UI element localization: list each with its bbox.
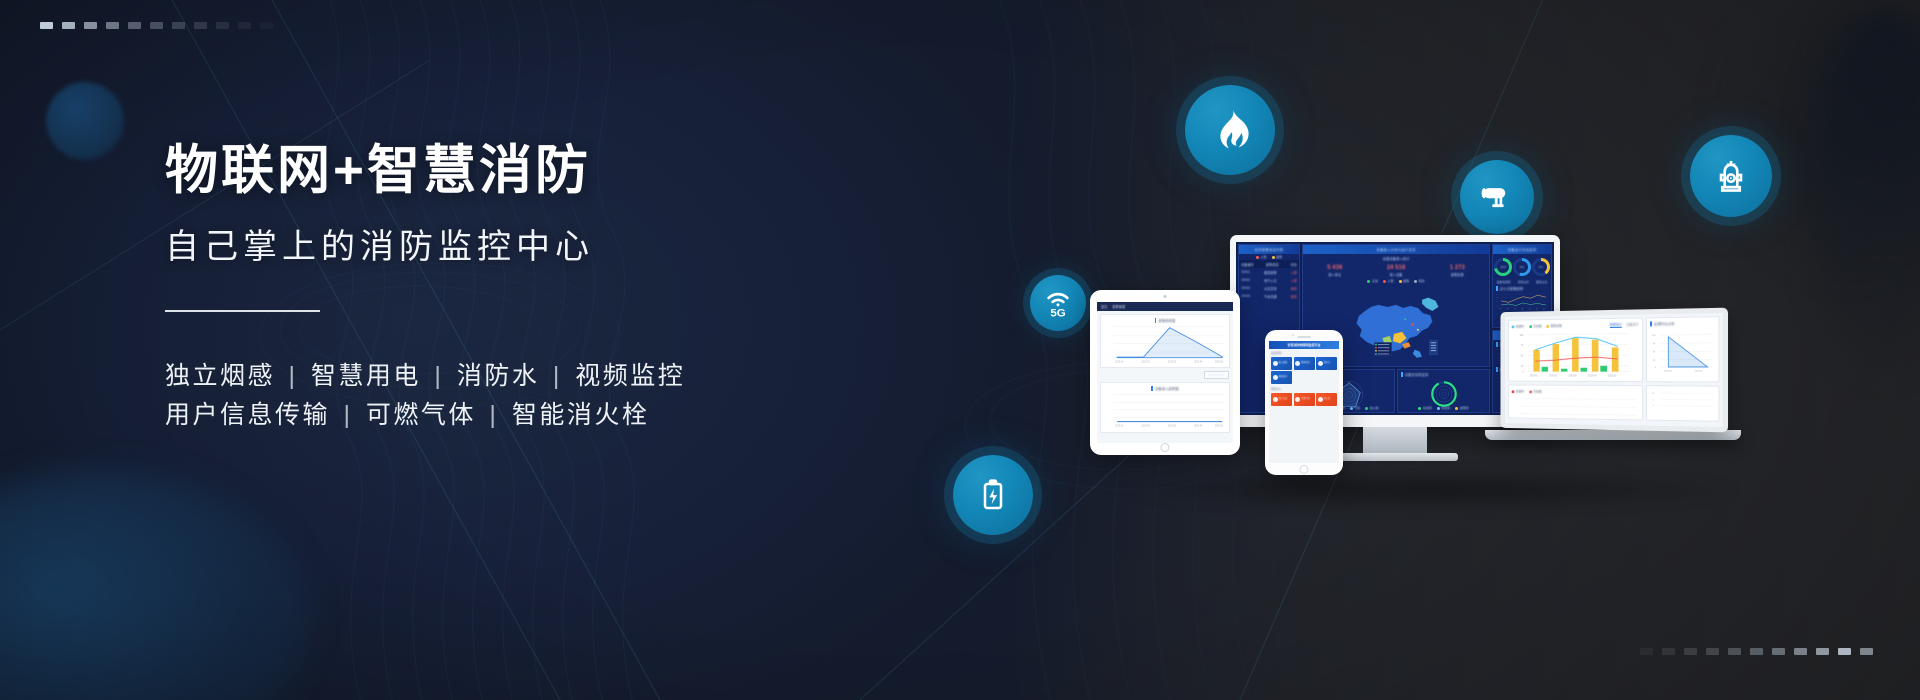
svg-text:0: 0 xyxy=(1653,406,1655,408)
kpi-label: 接入单位 xyxy=(1327,272,1342,277)
phone-app-bar: 智慧消防物联网监控平台 xyxy=(1269,341,1339,349)
svg-text:20: 20 xyxy=(1497,301,1499,303)
list-item[interactable]: 视频监控 xyxy=(1271,371,1292,384)
page-title: 物联网+智慧消防 xyxy=(165,140,805,203)
feature-item: 独立烟感 xyxy=(165,362,275,390)
feature-item: 智慧用电 xyxy=(311,362,421,390)
svg-text:2023-03: 2023-03 xyxy=(1168,426,1177,428)
device-mockup-cluster: 实时报警信息列表 火警 故障 设备编号 报警类型 xyxy=(1100,235,1740,485)
list-item[interactable]: 消火栓 xyxy=(1316,393,1337,406)
laptop-bottom-row: 处理中 已处理 xyxy=(1505,385,1723,425)
svg-text:30: 30 xyxy=(1653,360,1656,362)
gauge: 6% xyxy=(1513,258,1531,276)
kpi-row: 5 436 接入单位 24 518 接入设备 1 273 xyxy=(1303,261,1489,278)
battery-bolt-icon xyxy=(953,455,1033,535)
laptop-mockup: 处理中 已处理 报警总数 报警统计 设备统计 xyxy=(1495,310,1745,440)
hero-banner: 物联网+智慧消防 自己掌上的消防监控中心 独立烟感 | 智慧用电 | 消防水 |… xyxy=(0,0,1920,700)
phone-device-tiles: 独立烟感 智慧用电 消防水 视频监控 xyxy=(1269,355,1339,386)
legend-label: 消火栓 xyxy=(1370,406,1379,410)
svg-text:2023-03: 2023-03 xyxy=(1568,375,1577,377)
svg-text:0: 0 xyxy=(1497,307,1498,309)
svg-text:30: 30 xyxy=(1497,297,1499,299)
laptop-monthly-bar-chart: 1007550 250 2023-012023-022023-03 2023-0… xyxy=(1512,328,1639,379)
cell: JS004 xyxy=(1241,294,1250,299)
phone-camera-icon xyxy=(1292,334,1294,336)
cell: 故障 xyxy=(1291,294,1297,299)
hero-copy: 物联网+智慧消防 自己掌上的消防监控中心 独立烟感 | 智慧用电 | 消防水 |… xyxy=(165,140,805,436)
gear-icon xyxy=(1318,361,1323,366)
legend-label: 故障率 xyxy=(1460,406,1469,410)
svg-text:2023-01: 2023-01 xyxy=(1530,375,1539,377)
tablet-home-button[interactable] xyxy=(1161,443,1170,452)
legend-label: 故障 xyxy=(1403,279,1409,283)
5g-signal-icon: 5G xyxy=(1030,275,1086,331)
tile-label: 独立烟感 xyxy=(1279,362,1288,365)
svg-text:2023-04: 2023-04 xyxy=(1194,426,1203,428)
page-subtitle: 自己掌上的消防监控中心 xyxy=(165,219,805,268)
svg-text:10: 10 xyxy=(1652,393,1655,395)
feature-list: 独立烟感 | 智慧用电 | 消防水 | 视频监控 用户信息传输 | 可燃气体 |… xyxy=(165,357,805,436)
gauge-label: 离线占比 xyxy=(1518,280,1529,284)
svg-text:2023-04: 2023-04 xyxy=(1588,375,1597,377)
table-header: 设备编号 报警类型 状态 xyxy=(1239,260,1299,268)
legend-label: 已处理 xyxy=(1533,390,1541,394)
tile-label: 可燃气体 xyxy=(1301,398,1310,401)
legend-label: 离线率 xyxy=(1441,406,1450,410)
kpi: 24 518 接入设备 xyxy=(1387,265,1405,277)
kpi-label: 报警处理 xyxy=(1450,272,1465,277)
panel-title: 实时报警信息列表 xyxy=(1239,245,1299,254)
warning-icon xyxy=(1273,397,1278,402)
fire-hydrant-icon xyxy=(1690,135,1772,217)
card-title: 报警趋势图 xyxy=(1158,318,1175,323)
cell: 故障 xyxy=(1291,286,1297,291)
column-header: 报警类型 xyxy=(1266,262,1279,267)
svg-text:40: 40 xyxy=(1497,294,1499,296)
feature-separator: | xyxy=(339,401,356,429)
gauge: 92% xyxy=(1494,258,1512,276)
kpi: 1 273 报警处理 xyxy=(1450,265,1465,277)
laptop-lid: 处理中 已处理 报警总数 报警统计 设备统计 xyxy=(1501,308,1728,433)
card-title: 设备接入趋势图 xyxy=(1155,386,1179,391)
laptop-top-row: 处理中 已处理 报警总数 报警统计 设备统计 xyxy=(1505,313,1723,386)
phone-speaker xyxy=(1297,336,1311,338)
cell: JS003 xyxy=(1241,286,1250,291)
kpi-value: 1 273 xyxy=(1450,265,1465,271)
feature-item: 消防水 xyxy=(457,362,540,390)
panel-title: 设备在线率监测 xyxy=(1398,370,1489,377)
phone-screen: 智慧消防物联网监控平台 设备管理 独立烟感 智慧用电 消防水 视频监控 报警中心 xyxy=(1269,341,1339,463)
column-header: 设备编号 xyxy=(1241,262,1254,267)
tablet-body: 首页 报警管理 报警趋势图 xyxy=(1090,290,1240,455)
list-item[interactable]: 用户信息 xyxy=(1271,393,1292,406)
svg-text:2023-02: 2023-02 xyxy=(1142,426,1151,428)
cctv-camera-icon xyxy=(1460,160,1534,234)
warning-icon xyxy=(1295,397,1300,402)
kpi-value: 5 436 xyxy=(1327,265,1342,271)
svg-text:60: 60 xyxy=(1653,351,1656,353)
svg-text:5G: 5G xyxy=(1050,308,1065,319)
svg-text:0: 0 xyxy=(1523,372,1525,374)
gauge-captions: 设备在线率 离线占比 故障占比 xyxy=(1493,280,1551,284)
gear-icon xyxy=(1273,361,1278,366)
phone-alarm-tiles: 用户信息 可燃气体 消火栓 xyxy=(1269,392,1339,408)
cell: 火警 xyxy=(1291,278,1297,283)
cell: 气体泄漏 xyxy=(1264,294,1277,299)
kpi: 5 436 接入单位 xyxy=(1327,265,1342,277)
laptop-duration-chart: 1209060 300 2023-042023-05 xyxy=(1650,326,1715,379)
tablet-card-trend: 报警趋势图 2023-012023-022023-03 2023-042023-… xyxy=(1100,314,1230,368)
svg-text:2023-05: 2023-05 xyxy=(1608,375,1617,377)
svg-text:5: 5 xyxy=(1653,400,1655,402)
gauge-label: 故障占比 xyxy=(1536,280,1547,284)
legend-label: 在线率 xyxy=(1423,406,1432,410)
svg-text:2023-05: 2023-05 xyxy=(1215,361,1224,363)
duration-chart-card: 处理时长分布 1209060 300 xyxy=(1646,316,1719,383)
gauge: 2% xyxy=(1532,258,1550,276)
feature-line: 用户信息传输 | 可燃气体 | 智能消火栓 xyxy=(165,396,805,436)
tablet-mockup: 首页 报警管理 报警趋势图 xyxy=(1090,290,1240,455)
svg-text:25: 25 xyxy=(1521,366,1524,368)
gear-icon xyxy=(1295,361,1300,366)
list-item[interactable]: 独立烟感 xyxy=(1271,357,1292,370)
tile-label: 消火栓 xyxy=(1324,398,1331,401)
table-row[interactable]: JS003 水压异常 故障 xyxy=(1239,284,1299,292)
cell: JS001 xyxy=(1241,270,1250,275)
legend-label: 故障 xyxy=(1276,255,1282,259)
table-row[interactable]: JS001 烟感报警 火警 xyxy=(1239,268,1299,276)
svg-text:2023-04: 2023-04 xyxy=(1194,361,1203,363)
cell: 火警 xyxy=(1291,270,1297,275)
week-trend-chart: 4030 20100 周一周二周三 周四周五周六 周日 xyxy=(1493,291,1551,312)
svg-text:100: 100 xyxy=(1520,335,1524,337)
flame-icon xyxy=(1185,85,1275,175)
online-rate-panel: 设备在线率监测 xyxy=(1397,369,1490,413)
svg-text:2023-01: 2023-01 xyxy=(1115,426,1124,428)
legend-label: 离线 xyxy=(1419,279,1425,283)
kpi-value: 24 518 xyxy=(1387,265,1405,271)
laptop-bottom-card-left: 处理中 已处理 xyxy=(1508,385,1643,420)
tablet-alarm-trend-chart: 2023-012023-022023-03 2023-042023-05 xyxy=(1104,323,1226,364)
svg-text:90: 90 xyxy=(1653,343,1656,345)
gear-icon xyxy=(1273,375,1278,380)
feature-separator: | xyxy=(430,362,447,390)
donut-legend: 在线率 离线率 故障率 xyxy=(1398,405,1489,411)
tablet-nav-item-alarms[interactable]: 报警管理 xyxy=(1112,304,1125,309)
tile-label: 视频监控 xyxy=(1279,376,1288,379)
monthly-chart-card: 处理中 已处理 报警总数 报警统计 设备统计 xyxy=(1508,317,1643,382)
dash-decoration-bottom-right xyxy=(1640,648,1882,655)
svg-text:2023-04: 2023-04 xyxy=(1664,371,1673,373)
tablet-navbar: 首页 报警管理 xyxy=(1097,302,1233,311)
svg-text:2023-05: 2023-05 xyxy=(1694,371,1703,373)
feature-item: 可燃气体 xyxy=(366,401,476,429)
phone-home-button[interactable] xyxy=(1300,465,1309,474)
tile-label: 消防水 xyxy=(1324,362,1331,365)
svg-text:50: 50 xyxy=(1521,356,1524,358)
tablet-device-trend-chart: 2023-012023-022023-03 2023-042023-05 xyxy=(1104,391,1226,429)
cell: 烟感报警 xyxy=(1264,270,1277,275)
cell: 电气火灾 xyxy=(1264,278,1277,283)
feature-line: 独立烟感 | 智慧用电 | 消防水 | 视频监控 xyxy=(165,357,805,397)
list-item[interactable]: 消防水 xyxy=(1316,357,1337,370)
gauge-label: 设备在线率 xyxy=(1497,280,1511,284)
legend-label: 处理中 xyxy=(1516,390,1524,394)
phone-body: 智慧消防物联网监控平台 设备管理 独立烟感 智慧用电 消防水 视频监控 报警中心 xyxy=(1265,330,1343,475)
gauge-value: 92% xyxy=(1497,261,1509,273)
feature-separator: | xyxy=(284,362,301,390)
tablet-screen: 首页 报警管理 报警趋势图 xyxy=(1097,302,1233,443)
list-item[interactable]: 可燃气体 xyxy=(1294,393,1315,406)
svg-text:0: 0 xyxy=(1655,367,1657,369)
panel-title: 设备接入分布与运行总览 xyxy=(1303,245,1489,254)
feature-item: 智能消火栓 xyxy=(512,401,650,429)
gauge-row: 92% 6% 2% xyxy=(1493,254,1551,280)
legend-label: 已处理 xyxy=(1533,324,1541,328)
svg-text:2023-01: 2023-01 xyxy=(1115,361,1124,363)
gauge-value: 2% xyxy=(1535,261,1547,273)
kpi-section-title: 全国设备接入统计 xyxy=(1303,254,1489,261)
laptop-screen: 处理中 已处理 报警总数 报警统计 设备统计 xyxy=(1505,313,1723,427)
legend-label: 报警总数 xyxy=(1550,324,1561,328)
feature-item: 视频监控 xyxy=(575,362,685,390)
svg-text:2023-02: 2023-02 xyxy=(1549,375,1558,377)
monitor-foot xyxy=(1332,453,1458,461)
warning-icon xyxy=(1318,397,1323,402)
legend-label: 气体 xyxy=(1354,406,1360,410)
svg-text:2023-02: 2023-02 xyxy=(1142,361,1151,363)
cell: JS002 xyxy=(1241,278,1250,283)
svg-text:10: 10 xyxy=(1497,305,1499,307)
title-divider xyxy=(165,310,320,312)
monitor-stand xyxy=(1363,427,1427,453)
gauge-value: 6% xyxy=(1516,261,1528,273)
panel-title: 设备运行状态监测 xyxy=(1493,245,1551,254)
feature-separator: | xyxy=(485,401,502,429)
legend-label: 火警 xyxy=(1387,279,1393,283)
svg-text:2023-03: 2023-03 xyxy=(1168,361,1177,363)
column-header: 状态 xyxy=(1291,262,1297,267)
phone-mockup: 智慧消防物联网监控平台 设备管理 独立烟感 智慧用电 消防水 视频监控 报警中心 xyxy=(1265,330,1343,475)
feature-separator: | xyxy=(549,362,566,390)
tablet-nav-item-home[interactable]: 首页 xyxy=(1101,304,1107,309)
svg-text:2023-05: 2023-05 xyxy=(1215,426,1224,428)
feature-item: 用户信息传输 xyxy=(165,401,330,429)
svg-text:120: 120 xyxy=(1652,335,1656,337)
tablet-camera-icon xyxy=(1164,295,1167,298)
svg-text:75: 75 xyxy=(1521,345,1524,347)
legend-label: 正常 xyxy=(1372,279,1378,283)
legend-label: 处理中 xyxy=(1516,324,1524,328)
dash-decoration-top-left xyxy=(40,22,282,29)
tablet-card-device: 设备接入趋势图 2023-012023-022023-03 2023-04202… xyxy=(1100,382,1230,433)
table-row[interactable]: JS004 气体泄漏 故障 xyxy=(1239,292,1299,300)
table-row[interactable]: JS002 电气火灾 火警 xyxy=(1239,276,1299,284)
legend-label: 火警 xyxy=(1260,255,1266,259)
export-report-button[interactable]: 导出报表数据 xyxy=(1204,371,1229,379)
tile-label: 智慧用电 xyxy=(1301,362,1310,365)
cell: 水压异常 xyxy=(1264,286,1277,291)
kpi-label: 接入设备 xyxy=(1387,272,1405,277)
chart-title: 近七日报警趋势 xyxy=(1493,284,1551,291)
tile-label: 用户信息 xyxy=(1279,398,1288,401)
laptop-bottom-card-right: 1050 xyxy=(1646,386,1719,422)
list-item[interactable]: 智慧用电 xyxy=(1294,357,1315,370)
